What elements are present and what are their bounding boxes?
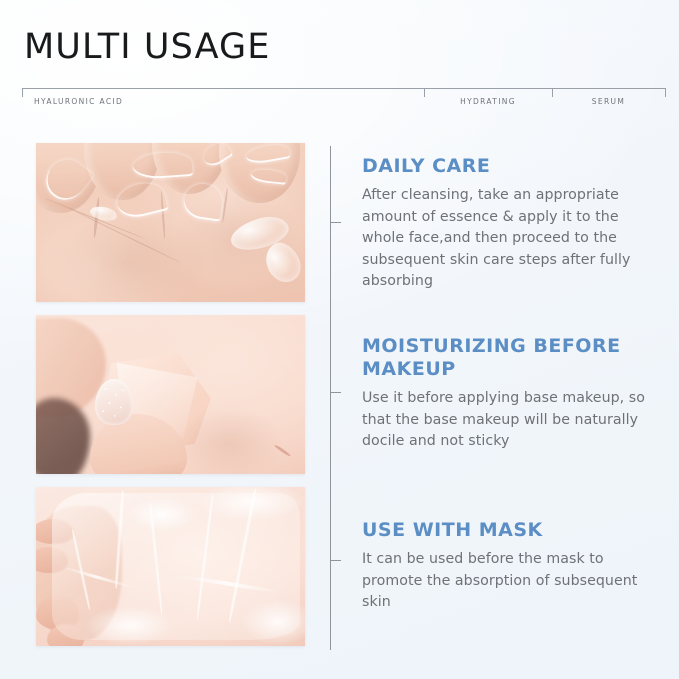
section-heading-moisturizing-before-makeup: MOISTURIZING BEFORE MAKEUP [362,335,658,381]
page-title: MULTI USAGE [24,27,270,67]
keyword-label-hyaluronic-acid: HYALURONIC ACID [34,97,123,106]
section-use-with-mask: USE WITH MASK It can be used before the … [362,519,658,614]
keyword-label-hydrating: HYDRATING [424,97,552,106]
section-moisturizing-before-makeup: MOISTURIZING BEFORE MAKEUP Use it before… [362,335,658,453]
keyword-rail-tick-2 [552,88,553,97]
keyword-rail-tick-end [665,88,666,97]
connector-tick-2 [330,392,341,393]
keyword-label-serum: SERUM [552,97,665,106]
infographic-page: MULTI USAGE HYALURONIC ACID HYDRATING SE… [0,0,679,679]
photo-serum-on-palm [36,143,305,302]
section-heading-daily-care: DAILY CARE [362,155,658,178]
keyword-rail: HYALURONIC ACID HYDRATING SERUM [22,88,666,116]
connector-tick-1 [330,222,341,223]
section-daily-care: DAILY CARE After cleansing, take an appr… [362,155,658,293]
section-body-use-with-mask: It can be used before the mask to promot… [362,549,658,614]
section-heading-use-with-mask: USE WITH MASK [362,519,658,542]
photo-makeup-sponge [36,315,305,474]
photo-sheet-mask [36,487,305,646]
keyword-rail-line [22,88,666,89]
connector-tick-3 [330,560,341,561]
section-body-daily-care: After cleansing, take an appropriate amo… [362,185,658,293]
section-body-moisturizing-before-makeup: Use it before applying base makeup, so t… [362,388,658,453]
keyword-rail-tick-1 [424,88,425,97]
keyword-rail-tick-start [22,88,23,97]
